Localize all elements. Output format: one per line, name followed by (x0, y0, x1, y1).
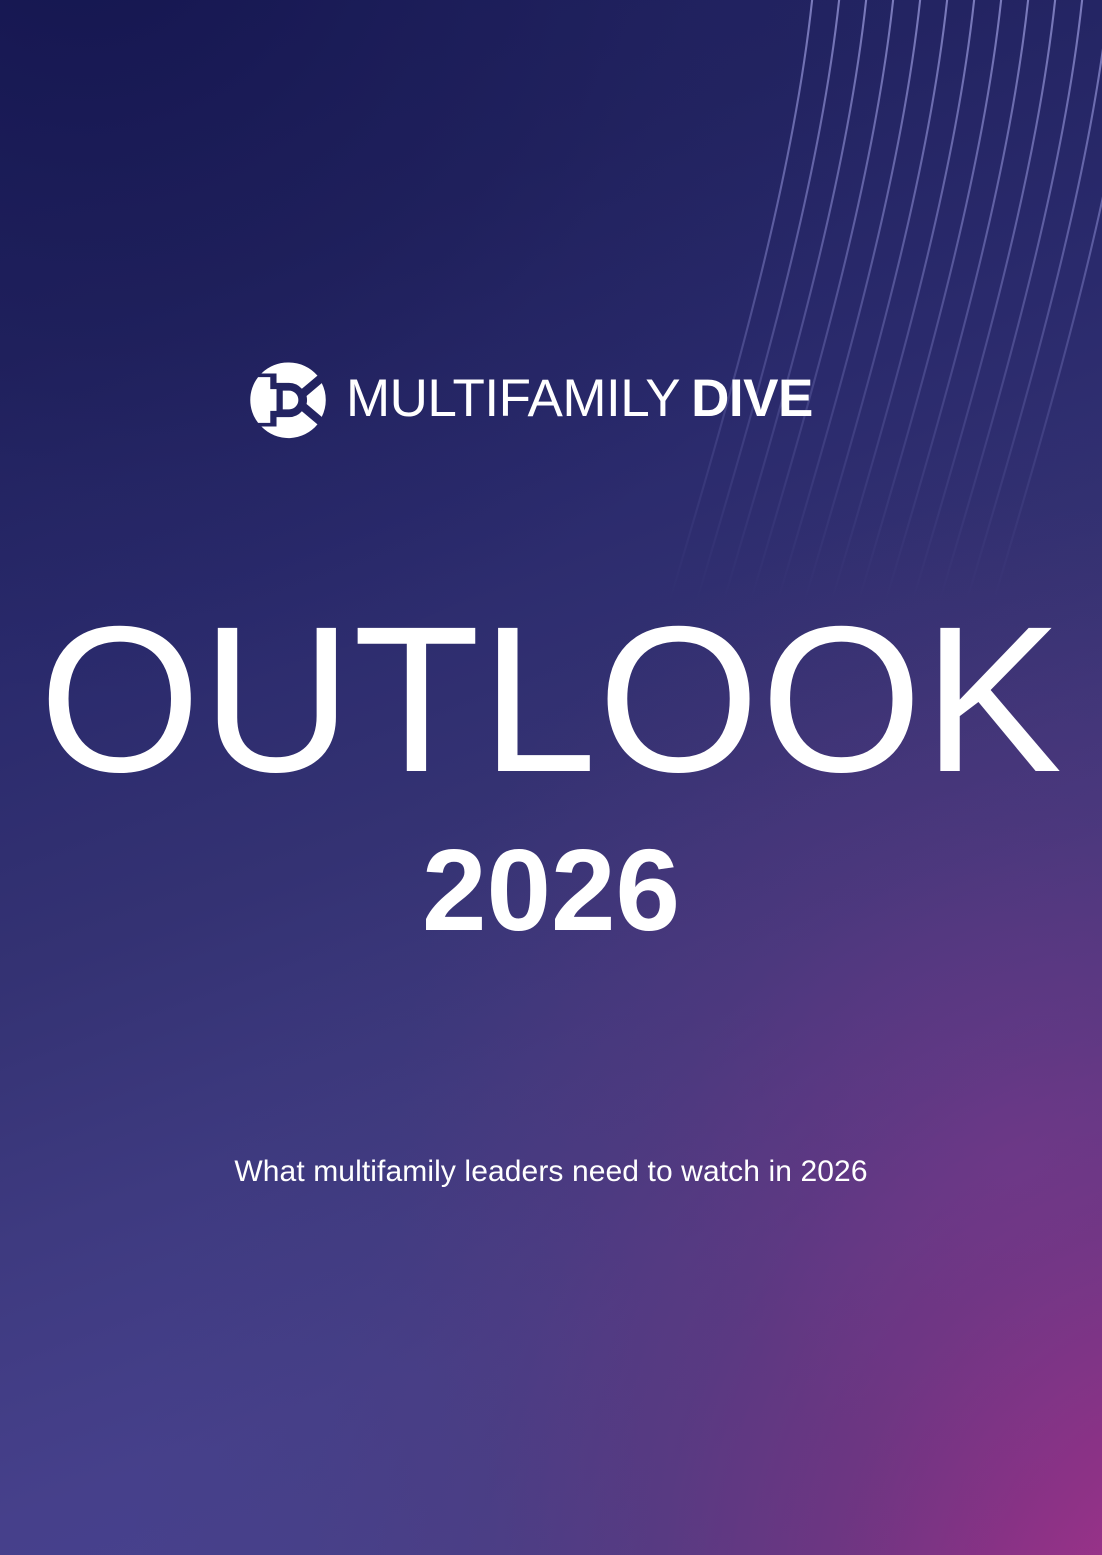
report-cover-page: MULTIFAMILY DIVE OUTLOOK 2026 What multi… (0, 0, 1102, 1555)
page-subtitle: What multifamily leaders need to watch i… (0, 1152, 1102, 1191)
multifamily-dive-logo-icon (250, 361, 328, 439)
page-title: OUTLOOK (0, 596, 1102, 804)
brand-wordmark: MULTIFAMILY DIVE (346, 372, 813, 428)
brand-logo-lockup: MULTIFAMILY DIVE (250, 361, 813, 439)
wordmark-dive: DIVE (691, 372, 813, 425)
report-year: 2026 (0, 832, 1102, 948)
wordmark-multifamily: MULTIFAMILY (346, 372, 680, 425)
